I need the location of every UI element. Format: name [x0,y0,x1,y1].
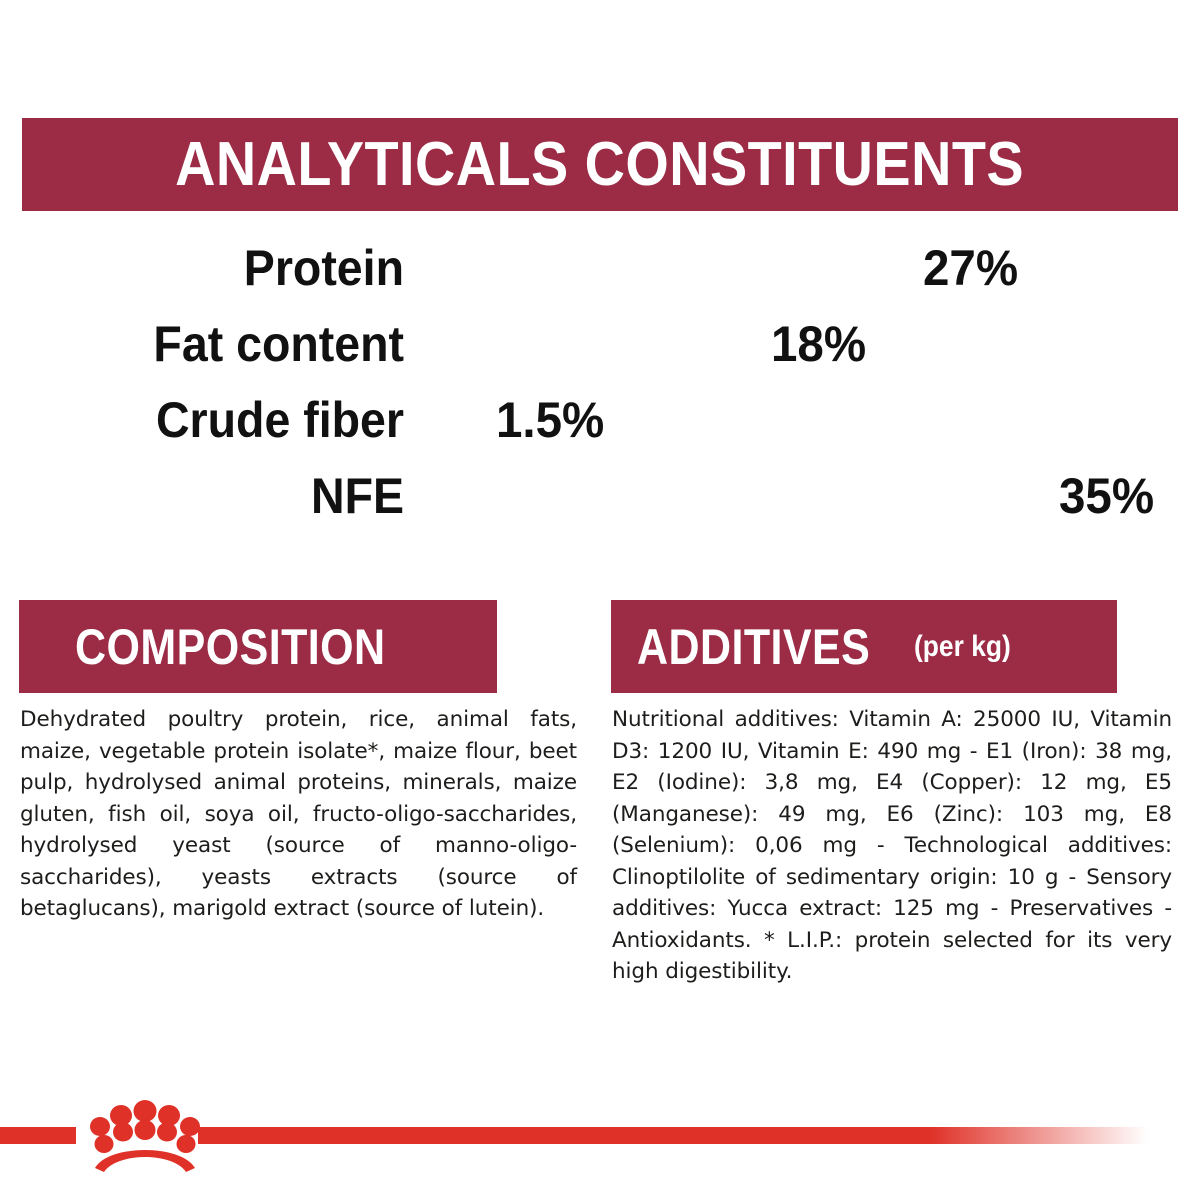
bar-label-fat-content: Fat content [28,316,404,372]
bar-value-crude-fiber: 1.5% [496,392,604,448]
composition-title: COMPOSITION [75,622,386,672]
additives-title: ADDITIVES [637,622,870,672]
footer-rule-right [198,1127,1148,1144]
analyticals-constituents-banner: ANALYTICALS CONSTITUENTS [22,118,1178,211]
royal-canin-crown-icon [85,1100,205,1172]
additives-per-kg-label: (per kg) [914,632,1011,662]
chart-row: Protein 27% [0,240,1200,296]
additives-text: Nutritional additives: Vitamin A: 25000 … [612,704,1172,988]
bar-label-crude-fiber: Crude fiber [28,392,404,448]
chart-row: Crude fiber 1.5% [0,392,1200,448]
footer [0,1100,1200,1200]
additives-banner: ADDITIVES (per kg) [611,600,1117,693]
bar-value-protein: 27% [923,240,1018,296]
analyticals-constituents-title: ANALYTICALS CONSTITUENTS [176,134,1025,196]
composition-banner: COMPOSITION [19,600,497,693]
bar-label-nfe: NFE [28,468,404,524]
bar-value-fat-content: 18% [771,316,866,372]
bar-value-nfe: 35% [1059,468,1154,524]
chart-row: NFE 35% [0,468,1200,524]
composition-text: Dehydrated poultry protein, rice, animal… [20,704,577,925]
chart-row: Fat content 18% [0,316,1200,372]
bar-label-protein: Protein [28,240,404,296]
analyticals-bar-chart: Protein 27% Fat content 18% Crude fiber … [0,240,1200,540]
footer-rule-left [0,1127,76,1144]
